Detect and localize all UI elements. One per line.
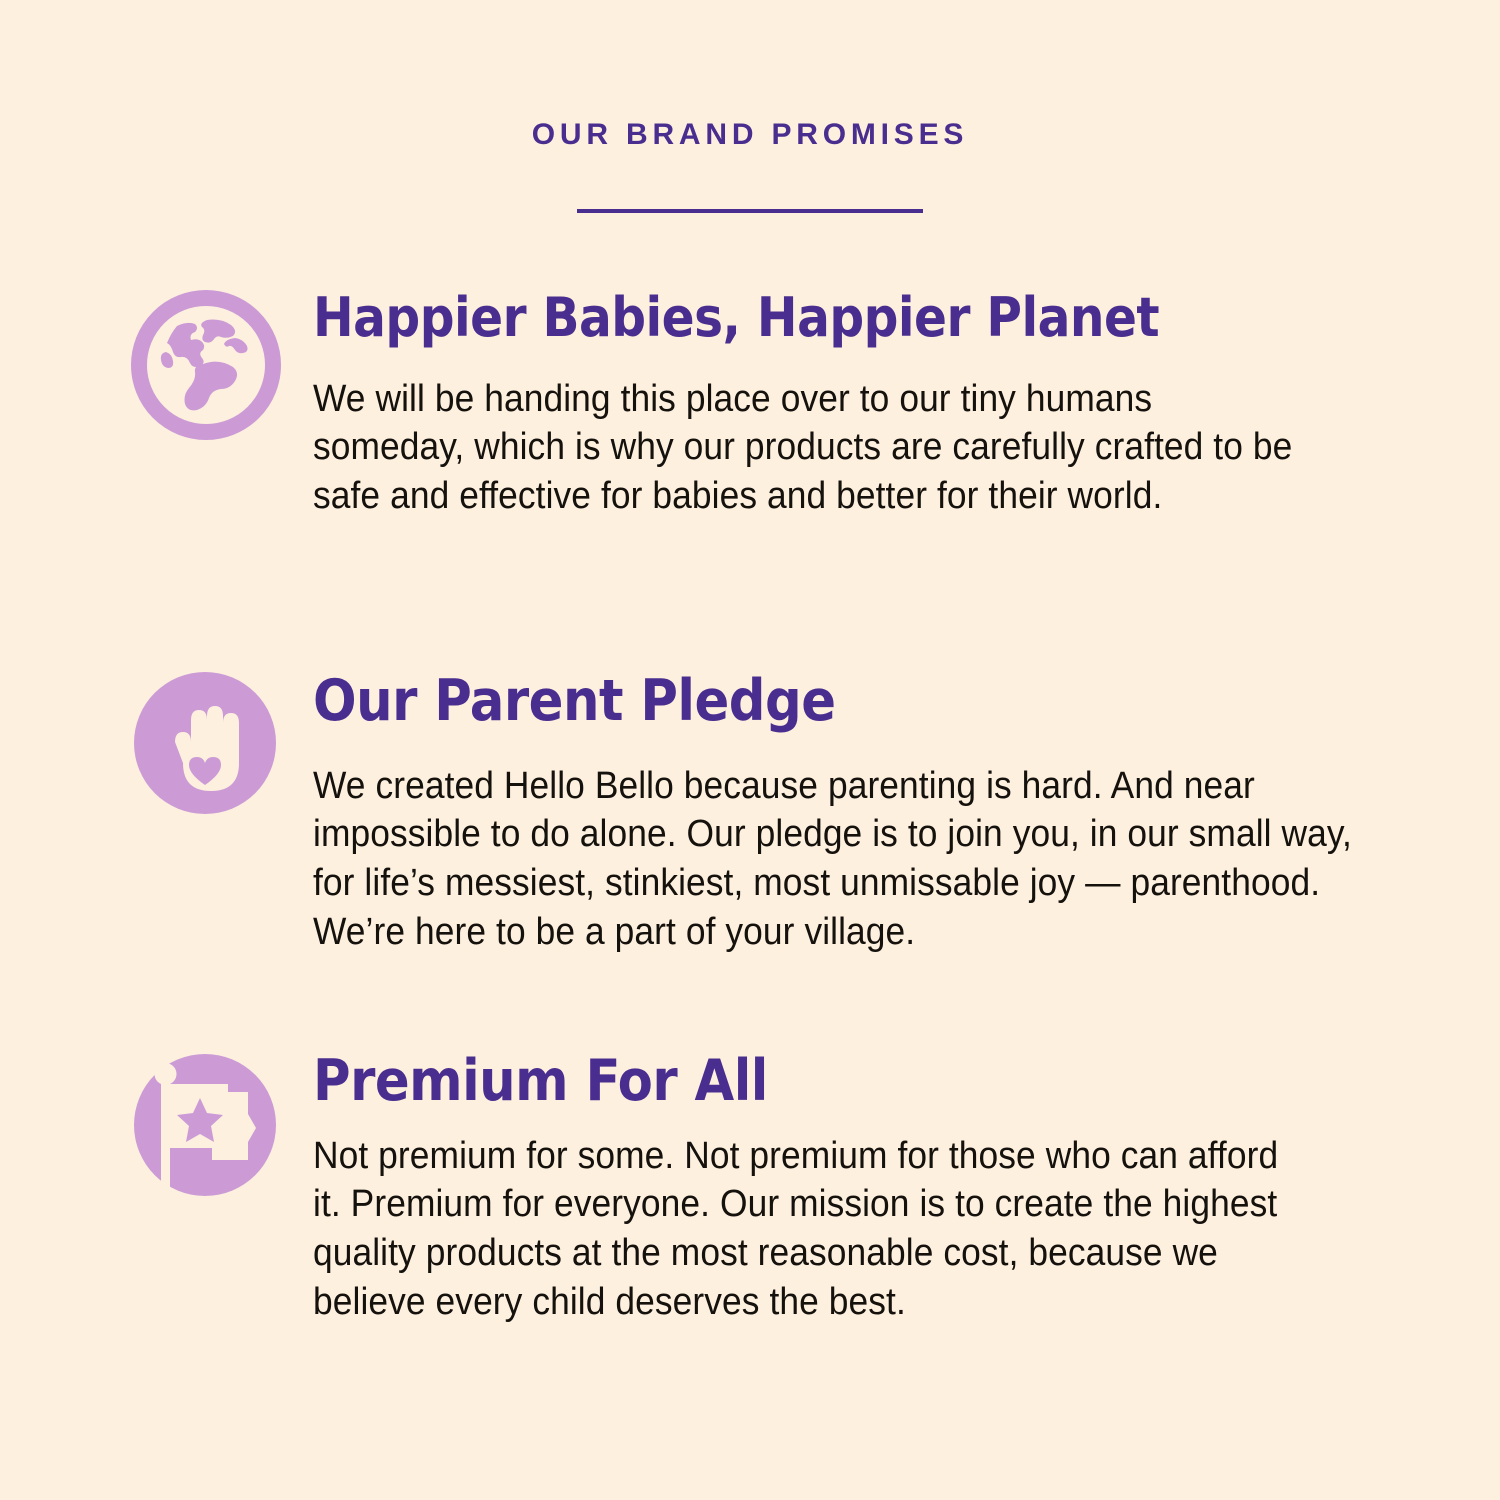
promise-content: Happier Babies, Happier Planet We will b… — [313, 290, 1500, 521]
page-header: OUR BRAND PROMISES — [0, 118, 1500, 213]
promise-description: Not premium for some. Not premium for th… — [313, 1132, 1296, 1327]
promise-description: We created Hello Bello because parenting… — [313, 762, 1361, 957]
promise-item-parent-pledge: Our Parent Pledge We created Hello Bello… — [0, 672, 1500, 956]
promise-content: Our Parent Pledge We created Hello Bello… — [313, 672, 1500, 956]
promise-item-happier-babies: Happier Babies, Happier Planet We will b… — [0, 290, 1500, 521]
promise-title: Our Parent Pledge — [313, 672, 1440, 732]
header-divider — [577, 209, 923, 213]
flag-star-icon — [131, 1052, 281, 1202]
promise-item-premium-for-all: Premium For All Not premium for some. No… — [0, 1052, 1500, 1326]
brand-promises-page: OUR BRAND PROMISES Happier Babies, Happi… — [0, 0, 1500, 1500]
promise-content: Premium For All Not premium for some. No… — [313, 1052, 1500, 1326]
hand-heart-icon — [131, 672, 281, 822]
promise-title: Premium For All — [313, 1052, 1370, 1112]
promise-description: We will be handing this place over to ou… — [313, 375, 1296, 521]
promise-title: Happier Babies, Happier Planet — [313, 290, 1370, 347]
page-title: OUR BRAND PROMISES — [0, 118, 1500, 151]
globe-icon — [131, 290, 281, 440]
